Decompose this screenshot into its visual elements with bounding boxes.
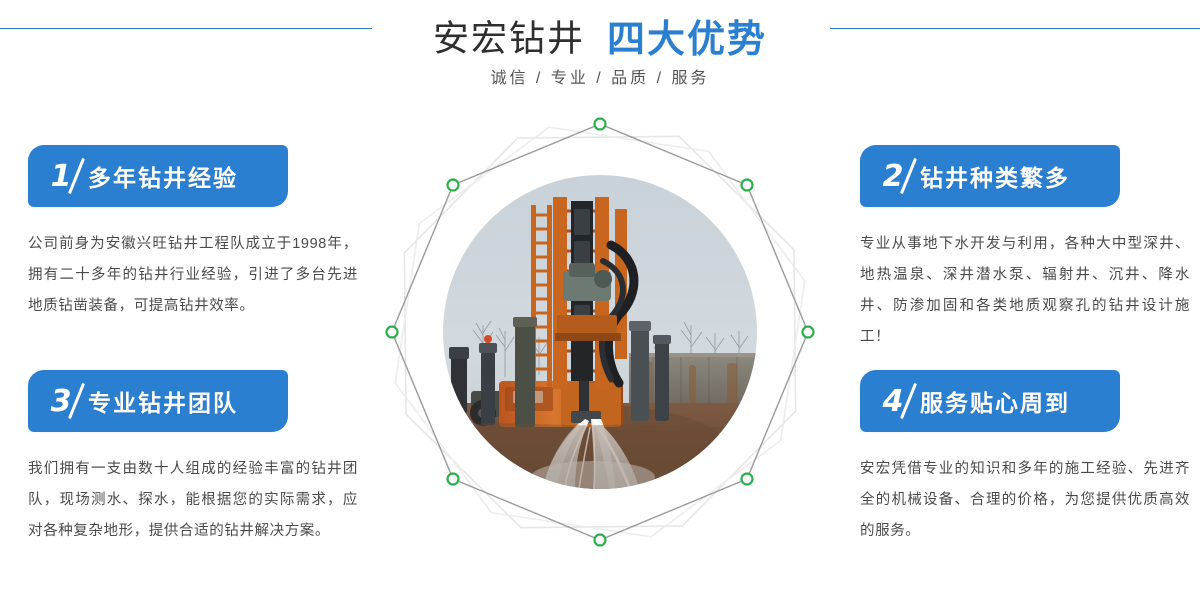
feature-number-1-text: 1 [51, 159, 72, 194]
feature-title-1: 多年钻井经验 [84, 159, 238, 193]
page-title: 安宏钻井四大优势 [0, 8, 1200, 63]
feature-block-3: 3 专业钻井团队 我们拥有一支由数十人组成的经验丰富的钻井团队，现场测水、探水，… [28, 370, 368, 547]
feature-number-3: 3 [28, 370, 84, 432]
feature-badge-2[interactable]: 2 钻井种类繁多 [860, 145, 1120, 207]
feature-number-4-text: 4 [883, 384, 904, 419]
page-header: 安宏钻井四大优势 诚信 / 专业 / 品质 / 服务 [0, 0, 1200, 110]
feature-body-3: 我们拥有一支由数十人组成的经验丰富的钻井团队，现场测水、探水，能根据您的实际需求… [28, 454, 358, 547]
title-accent: 四大优势 [607, 19, 767, 61]
feature-body-1: 公司前身为安徽兴旺钻井工程队成立于1998年，拥有二十多年的钻井行业经验，引进了… [28, 229, 358, 322]
feature-number-3-text: 3 [51, 384, 72, 419]
feature-title-3: 专业钻井团队 [84, 384, 238, 418]
feature-number-2: 2 [860, 145, 916, 207]
feature-body-2: 专业从事地下水开发与利用，各种大中型深井、地热温泉、深井潜水泵、辐射井、沉井、降… [860, 229, 1190, 353]
drilling-rig-photo [443, 175, 757, 489]
feature-title-2: 钻井种类繁多 [916, 159, 1070, 193]
feature-badge-1[interactable]: 1 多年钻井经验 [28, 145, 288, 207]
feature-block-1: 1 多年钻井经验 公司前身为安徽兴旺钻井工程队成立于1998年，拥有二十多年的钻… [28, 145, 368, 322]
feature-number-4: 4 [860, 370, 916, 432]
feature-body-4: 安宏凭借专业的知识和多年的施工经验、先进齐全的机械设备、合理的价格，为您提供优质… [860, 454, 1190, 547]
feature-block-2: 2 钻井种类繁多 专业从事地下水开发与利用，各种大中型深井、地热温泉、深井潜水泵… [860, 145, 1200, 353]
feature-title-4: 服务贴心周到 [916, 384, 1070, 418]
title-main: 安宏钻井 [433, 18, 585, 59]
page-subtitle: 诚信 / 专业 / 品质 / 服务 [0, 64, 1200, 88]
feature-block-4: 4 服务贴心周到 安宏凭借专业的知识和多年的施工经验、先进齐全的机械设备、合理的… [860, 370, 1200, 547]
feature-number-2-text: 2 [883, 159, 904, 194]
advantages-banner: 安宏钻井四大优势 诚信 / 专业 / 品质 / 服务 1 多年钻井经验 公司前身… [0, 0, 1200, 600]
feature-number-1: 1 [28, 145, 84, 207]
feature-badge-4[interactable]: 4 服务贴心周到 [860, 370, 1120, 432]
feature-badge-3[interactable]: 3 专业钻井团队 [28, 370, 288, 432]
center-graphic [370, 102, 830, 562]
